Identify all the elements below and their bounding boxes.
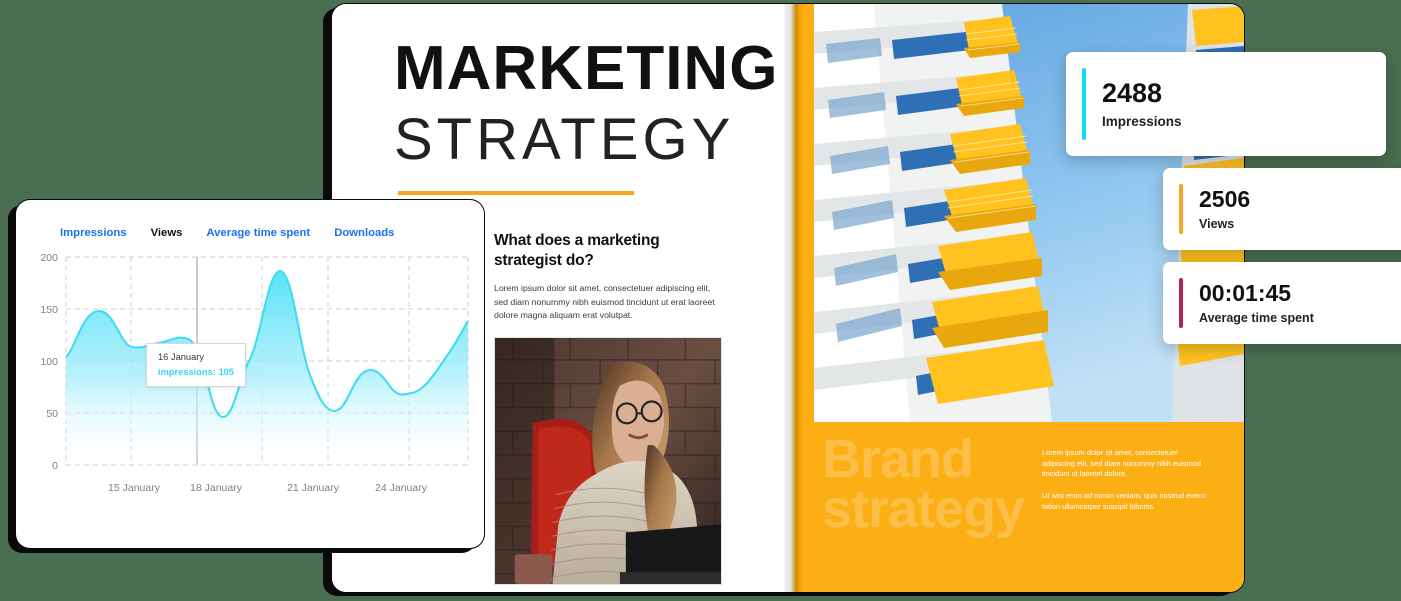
xtick-18-january: 18 January bbox=[190, 482, 243, 494]
brochure-title-block: MARKETING STRATEGY bbox=[332, 38, 784, 195]
stat-card-impressions[interactable]: 2488 Impressions bbox=[1066, 52, 1386, 156]
stat-value-time: 00:01:45 bbox=[1199, 281, 1314, 305]
stat-card-views[interactable]: 2506 Views bbox=[1163, 168, 1401, 250]
tab-downloads[interactable]: Downloads bbox=[334, 227, 394, 239]
tab-impressions[interactable]: Impressions bbox=[60, 227, 127, 239]
page-title-main: MARKETING bbox=[394, 38, 784, 100]
ytick-200: 200 bbox=[40, 252, 58, 264]
highlight-point bbox=[193, 350, 201, 358]
brand-ghost-line1: Brand bbox=[822, 434, 1024, 484]
xtick-21-january: 21 January bbox=[287, 482, 340, 494]
ytick-50: 50 bbox=[46, 408, 58, 420]
band-paragraph-2: Ut wisi enim ad minim veniam, quis nostr… bbox=[1042, 491, 1210, 512]
xtick-15-january: 15 January bbox=[108, 482, 161, 494]
brand-ghost-line2: strategy bbox=[822, 484, 1024, 534]
tab-views[interactable]: Views bbox=[151, 227, 183, 239]
stat-value-impressions: 2488 bbox=[1102, 79, 1182, 107]
stat-label-impressions: Impressions bbox=[1102, 114, 1182, 129]
brand-ghost-text: Brand strategy bbox=[822, 434, 1024, 534]
brochure-spine bbox=[784, 4, 814, 592]
stat-value-views: 2506 bbox=[1199, 187, 1250, 211]
ytick-150: 150 bbox=[40, 304, 58, 316]
area-chart: 200 150 100 50 0 bbox=[16, 251, 484, 519]
xtick-24-january: 24 January bbox=[375, 482, 428, 494]
article-heading: What does a marketing strategist do? bbox=[494, 231, 709, 272]
page-title-sub: STRATEGY bbox=[394, 104, 784, 177]
brand-strategy-band: Brand strategy Lorem ipsum dolor sit ame… bbox=[814, 422, 1244, 592]
metric-tabs: Impressions Views Average time spent Dow… bbox=[16, 200, 484, 239]
title-underline-rule bbox=[398, 191, 634, 195]
screenshot-stage: MARKETING STRATEGY What does a marketing… bbox=[0, 0, 1401, 601]
band-copy: Lorem ipsum dolor sit amet, consectetuer… bbox=[1042, 448, 1210, 513]
analytics-chart-card: Impressions Views Average time spent Dow… bbox=[16, 200, 484, 548]
article-body: Lorem ipsum dolor sit amet, consectetuer… bbox=[494, 282, 726, 322]
stat-label-views: Views bbox=[1199, 217, 1250, 231]
stat-card-average-time-spent[interactable]: 00:01:45 Average time spent bbox=[1163, 262, 1401, 344]
ytick-100: 100 bbox=[40, 356, 58, 368]
ytick-0: 0 bbox=[52, 460, 58, 472]
tab-average-time-spent[interactable]: Average time spent bbox=[206, 227, 310, 239]
stat-label-time: Average time spent bbox=[1199, 311, 1314, 325]
band-paragraph-1: Lorem ipsum dolor sit amet, consectetuer… bbox=[1042, 448, 1210, 480]
photo-person bbox=[494, 337, 722, 585]
